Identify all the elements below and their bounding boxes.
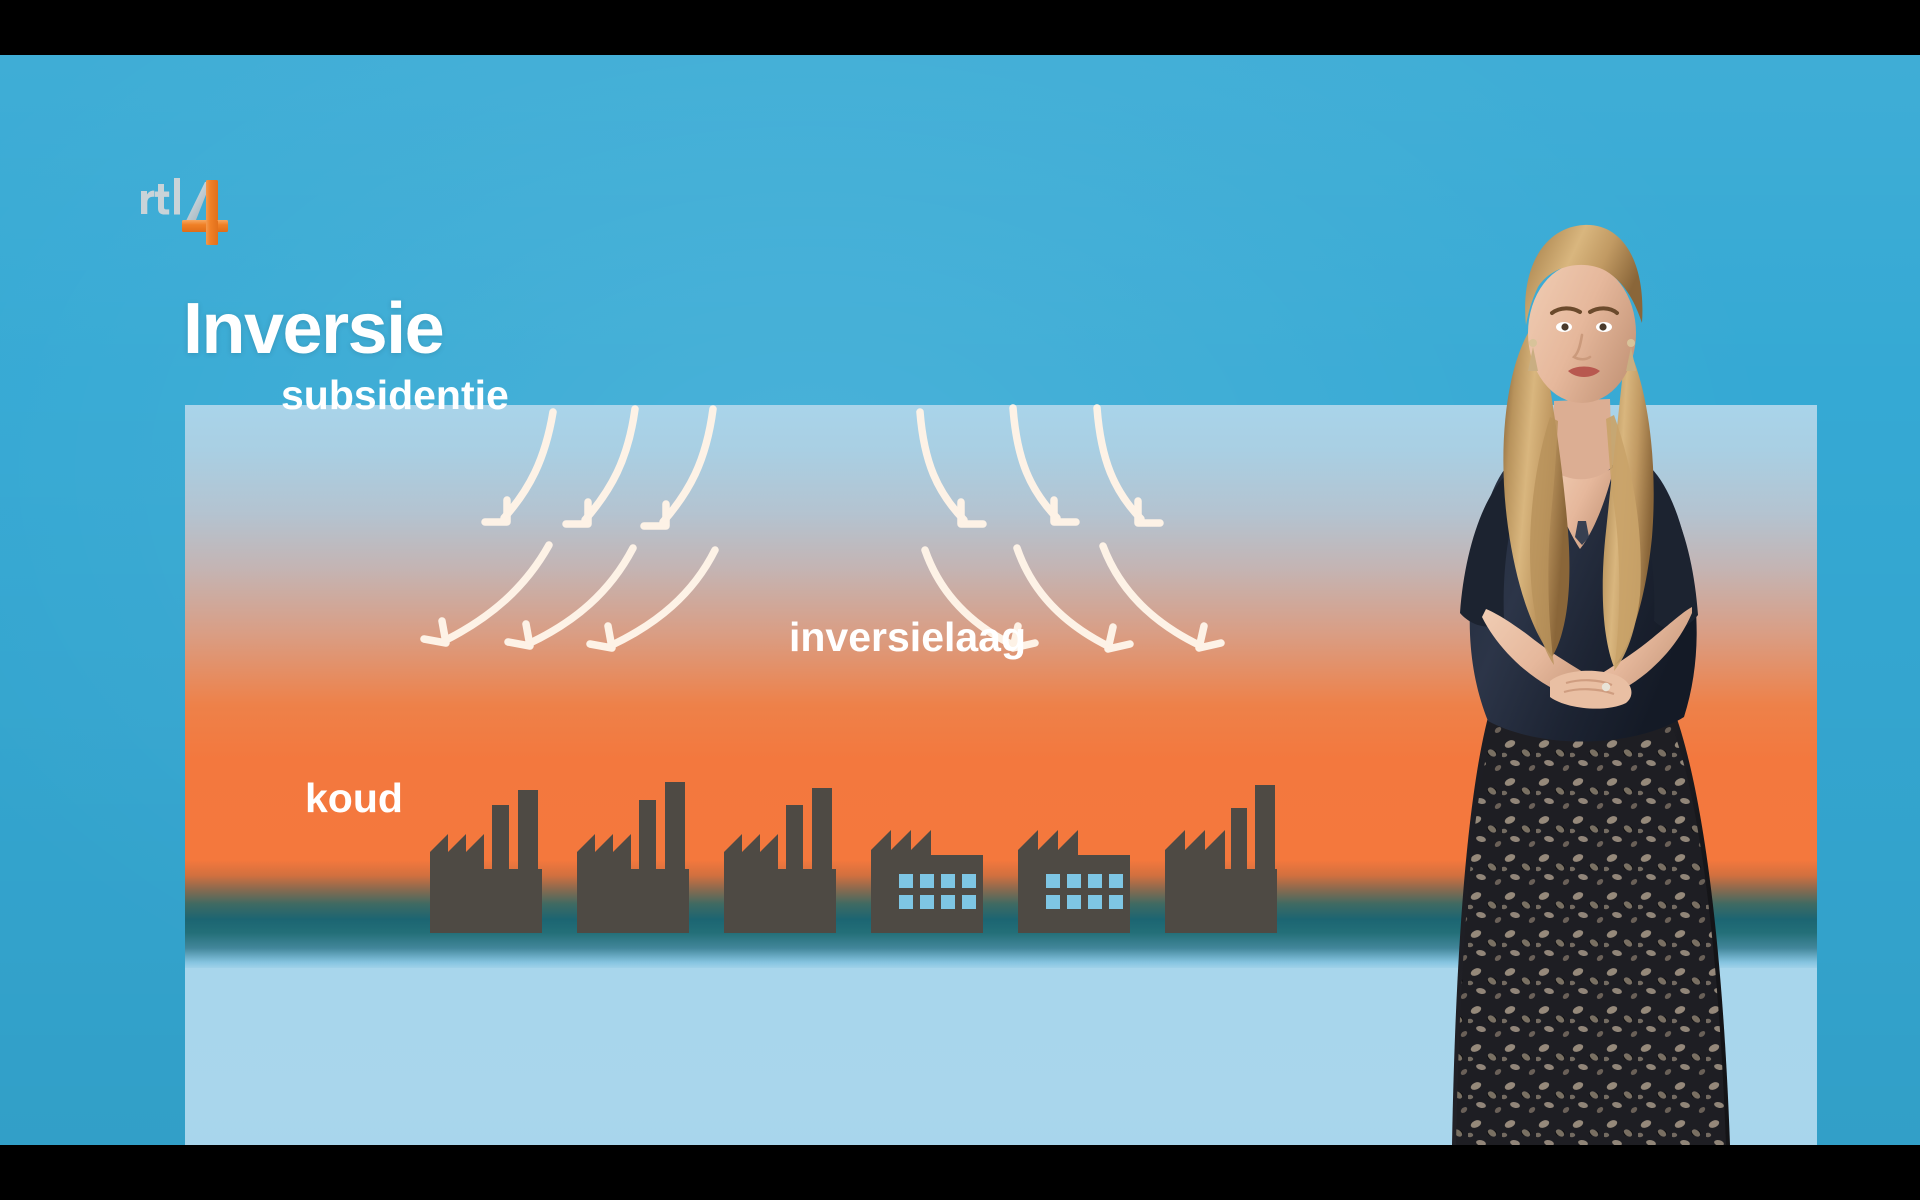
presenter-hair-front <box>1525 225 1642 325</box>
temperature-inversion-diagram: .arrowline { fill:none; stroke:#fdf2e6; … <box>185 350 1817 1070</box>
layer-inversion-boundary <box>185 860 1817 970</box>
page-title: Inversie <box>183 293 443 365</box>
broadcast-screen: Inversie <box>0 0 1920 1200</box>
rtl-4-logo <box>138 173 258 258</box>
logo-horizontal-bar <box>182 220 228 232</box>
broadcast-stage: Inversie <box>0 55 1920 1145</box>
logo-vertical-tail <box>206 220 218 245</box>
label-inversielaag: inversielaag <box>789 614 1026 661</box>
layer-cold-surface-air <box>185 968 1817 1145</box>
rtl-wordmark <box>141 178 180 215</box>
letterbox-bottom <box>0 1145 1920 1200</box>
label-koud: koud <box>305 775 403 822</box>
label-subsidentie: subsidentie <box>281 372 509 419</box>
letterbox-top <box>0 0 1920 55</box>
